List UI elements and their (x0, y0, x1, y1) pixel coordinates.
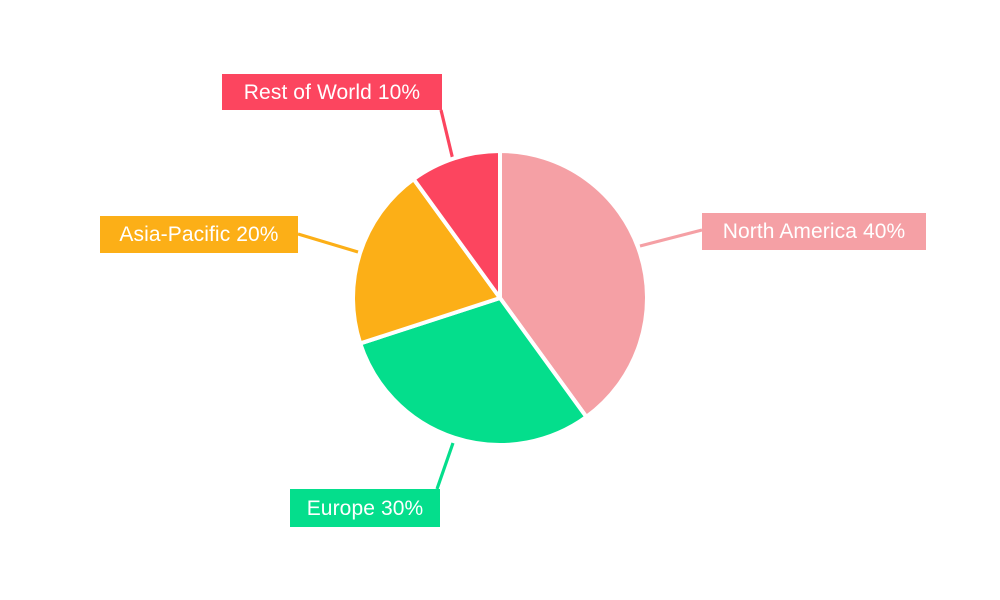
pie-slices (353, 151, 647, 445)
slice-label-text: Europe 30% (307, 498, 424, 519)
pie-chart-canvas (0, 0, 1000, 600)
slice-label-rest-of-world: Rest of World 10% (222, 74, 442, 110)
leader-line-rest-of-world (441, 110, 453, 160)
pie-chart-figure: North America 40% Europe 30% Asia-Pacifi… (0, 0, 1000, 600)
slice-label-text: Rest of World 10% (244, 82, 420, 103)
leader-line-europe (437, 443, 453, 489)
leader-line-north-america (640, 230, 702, 246)
slice-label-north-america: North America 40% (702, 213, 926, 250)
leader-line-asia-pacific (298, 234, 358, 252)
slice-label-text: Asia-Pacific 20% (119, 224, 278, 245)
slice-label-asia-pacific: Asia-Pacific 20% (100, 216, 298, 253)
slice-label-text: North America 40% (723, 221, 906, 242)
slice-label-europe: Europe 30% (290, 489, 440, 527)
